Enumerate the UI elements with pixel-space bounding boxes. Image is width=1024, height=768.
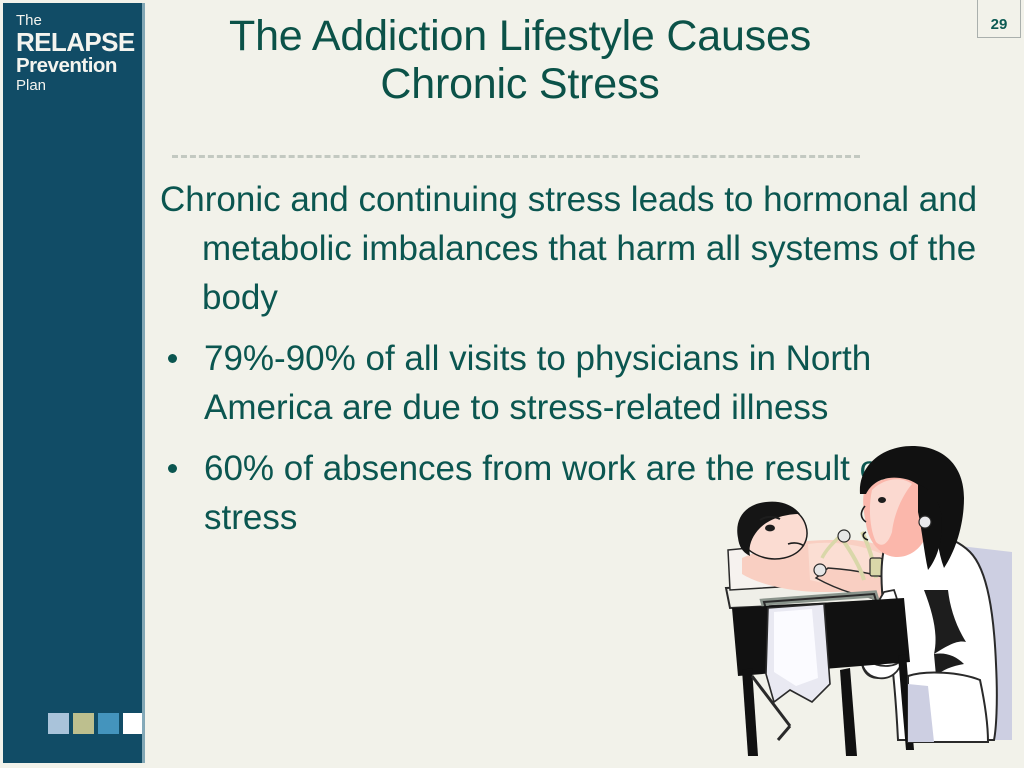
logo-line-prevention: Prevention — [16, 56, 140, 77]
swatch-blue — [98, 713, 119, 734]
title-line-2: Chronic Stress — [170, 60, 870, 108]
logo-line-plan: Plan — [16, 78, 140, 93]
page-title: The Addiction Lifestyle Causes Chronic S… — [170, 12, 870, 108]
swatch-khaki — [73, 713, 94, 734]
list-item: 79%-90% of all visits to physicians in N… — [160, 334, 990, 432]
sidebar: The RELAPSE Prevention Plan — [3, 3, 142, 763]
swatch-light-blue — [48, 713, 69, 734]
brand-logo: The RELAPSE Prevention Plan — [16, 13, 140, 93]
slide: The RELAPSE Prevention Plan 29 The Addic… — [0, 0, 1024, 768]
swatch-white — [123, 713, 144, 734]
swatch-strip — [48, 713, 144, 734]
bullet-dot-icon — [168, 354, 177, 363]
bullet-dot-icon — [168, 464, 177, 473]
page-number-badge: 29 — [977, 0, 1021, 38]
list-item-label: 79%-90% of all visits to physicians in N… — [204, 334, 990, 432]
sidebar-edge — [142, 3, 145, 763]
intro-paragraph-text: Chronic and continuing stress leads to h… — [160, 175, 990, 322]
title-divider — [172, 155, 860, 158]
logo-line-relapse: RELAPSE — [16, 29, 140, 55]
logo-line-the: The — [16, 13, 140, 28]
page-number: 29 — [991, 16, 1008, 33]
doctor-examining-patient-illustration — [712, 440, 1024, 762]
title-line-1: The Addiction Lifestyle Causes — [170, 12, 870, 60]
intro-paragraph: Chronic and continuing stress leads to h… — [160, 175, 990, 322]
